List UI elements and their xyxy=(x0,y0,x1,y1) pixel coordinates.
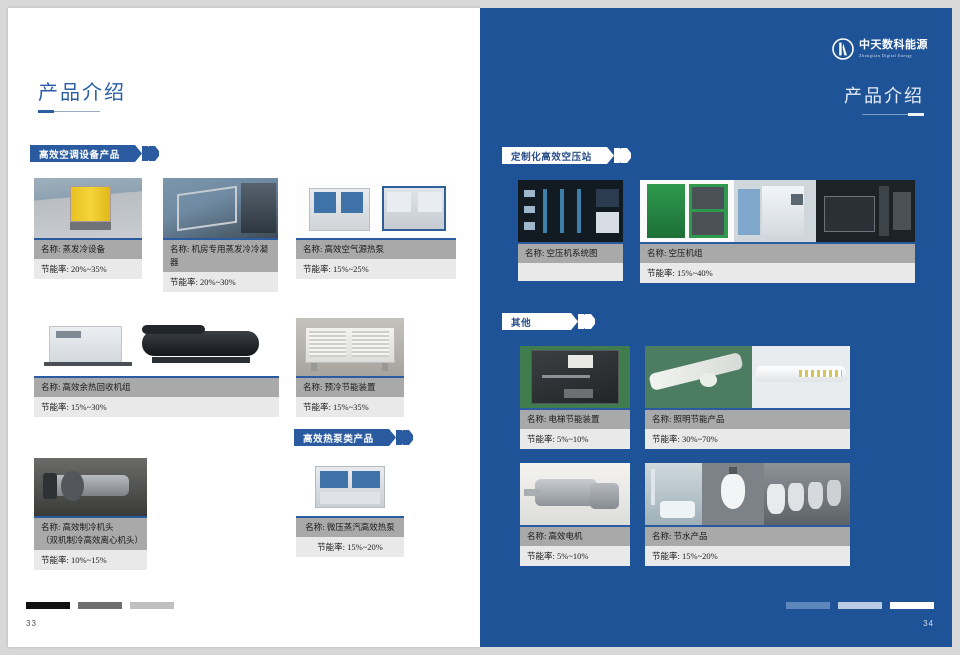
section-banner-label: 其他 xyxy=(502,313,564,330)
page-number: 34 xyxy=(923,619,934,628)
product-rate xyxy=(518,263,623,281)
product-rate: 节能率: 15%~25% xyxy=(296,259,456,279)
product-name: 名称: 高效制冷机头 （双机制冷高效离心机头） xyxy=(34,516,147,550)
page-title: 产品介绍 xyxy=(38,76,126,105)
progress-chip xyxy=(26,602,70,609)
product-name-line1: 名称: 高效制冷机头 xyxy=(41,522,114,532)
page-number: 33 xyxy=(26,619,37,628)
product-photo xyxy=(520,346,630,408)
product-card[interactable]: 名称: 高效电机 节能率: 5%~10% xyxy=(520,463,630,566)
product-name: 名称: 预冷节能装置 xyxy=(296,376,404,397)
product-photo xyxy=(645,346,850,408)
product-name: 名称: 蒸发冷设备 xyxy=(34,238,142,259)
product-photo xyxy=(640,180,915,242)
banner-tip-icon xyxy=(600,147,614,164)
product-rate: 节能率: 15%~35% xyxy=(296,397,404,417)
product-rate: 节能率: 20%~30% xyxy=(163,272,278,292)
logo-mark-icon xyxy=(832,38,854,60)
page-title: 产品介绍 xyxy=(844,82,924,108)
product-rate: 节能率: 30%~70% xyxy=(645,429,850,449)
spread-canvas: 产品介绍 高效空调设备产品 名称: 蒸发冷设备 xyxy=(0,0,960,655)
product-photo xyxy=(518,180,623,242)
progress-chip xyxy=(130,602,174,609)
product-photo xyxy=(296,458,404,516)
section-banner-label: 高效热泵类产品 xyxy=(294,429,382,446)
chevron-right-icon xyxy=(396,429,413,446)
product-name: 名称: 空压机组 xyxy=(640,242,915,263)
progress-chip xyxy=(838,602,882,609)
product-rate: 节能率: 5%~10% xyxy=(520,429,630,449)
right-page: 中天数科能源 Zhongtian Digital Energy 产品介绍 定制化… xyxy=(480,8,952,647)
product-rate: 节能率: 15%~40% xyxy=(640,263,915,283)
product-photo xyxy=(34,458,147,516)
product-name: 名称: 高效空气源热泵 xyxy=(296,238,456,259)
product-card[interactable]: 名称: 高效制冷机头 （双机制冷高效离心机头） 节能率: 10%~15% xyxy=(34,458,147,570)
product-name: 名称: 空压机系统图 xyxy=(518,242,623,263)
product-name: 名称: 高效电机 xyxy=(520,525,630,546)
product-card[interactable]: 名称: 电梯节能装置 节能率: 5%~10% xyxy=(520,346,630,449)
logo-text-en: Zhongtian Digital Energy xyxy=(859,54,928,58)
product-photo xyxy=(296,318,404,376)
chevron-right-icon xyxy=(142,145,159,162)
logo-wordmark: 中天数科能源 Zhongtian Digital Energy xyxy=(859,40,928,58)
product-card[interactable]: 名称: 预冷节能装置 节能率: 15%~35% xyxy=(296,318,404,417)
product-photo xyxy=(34,178,142,238)
brand-logo: 中天数科能源 Zhongtian Digital Energy xyxy=(832,38,928,60)
chevron-right-icon xyxy=(614,147,631,164)
product-name-line2: （双机制冷高效离心机头） xyxy=(41,534,140,547)
progress-chip xyxy=(786,602,830,609)
product-card[interactable]: 名称: 空压机组 节能率: 15%~40% xyxy=(640,180,915,283)
title-underline xyxy=(862,114,924,115)
product-rate: 节能率: 20%~35% xyxy=(34,259,142,279)
banner-tip-icon xyxy=(564,313,578,330)
product-photo xyxy=(34,318,279,376)
section-banner-hvac: 高效空调设备产品 xyxy=(30,145,159,162)
banner-tip-icon xyxy=(128,145,142,162)
product-photo xyxy=(645,463,850,525)
product-name: 名称: 高效余热回收机组 xyxy=(34,376,279,397)
product-card[interactable]: 名称: 照明节能产品 节能率: 30%~70% xyxy=(645,346,850,449)
left-page: 产品介绍 高效空调设备产品 名称: 蒸发冷设备 xyxy=(8,8,480,647)
product-name: 名称: 照明节能产品 xyxy=(645,408,850,429)
product-name: 名称: 电梯节能装置 xyxy=(520,408,630,429)
product-rate: 节能率: 15%~20% xyxy=(296,537,404,557)
section-banner-other: 其他 xyxy=(502,313,595,330)
progress-chips xyxy=(26,602,174,609)
progress-chips xyxy=(786,602,934,609)
product-rate: 节能率: 15%~30% xyxy=(34,397,279,417)
title-underline xyxy=(38,111,100,112)
chevron-right-icon xyxy=(578,313,595,330)
product-card[interactable]: 名称: 高效余热回收机组 节能率: 15%~30% xyxy=(34,318,279,417)
product-photo xyxy=(296,178,456,238)
product-photo xyxy=(163,178,278,238)
product-card[interactable]: 名称: 空压机系统图 xyxy=(518,180,623,281)
section-banner-label: 定制化高效空压站 xyxy=(502,147,600,164)
product-card[interactable]: 名称: 机房专用蒸发冷冷凝器 节能率: 20%~30% xyxy=(163,178,278,292)
section-banner-label: 高效空调设备产品 xyxy=(30,145,128,162)
product-rate: 节能率: 10%~15% xyxy=(34,550,147,570)
logo-text-cn: 中天数科能源 xyxy=(859,40,928,51)
product-card[interactable]: 名称: 高效空气源热泵 节能率: 15%~25% xyxy=(296,178,456,279)
product-name: 名称: 微压蒸汽高效热泵 xyxy=(296,516,404,537)
section-banner-aircomp: 定制化高效空压站 xyxy=(502,147,631,164)
product-rate: 节能率: 5%~10% xyxy=(520,546,630,566)
product-name: 名称: 节水产品 xyxy=(645,525,850,546)
product-card[interactable]: 名称: 节水产品 节能率: 15%~20% xyxy=(645,463,850,566)
product-rate: 节能率: 15%~20% xyxy=(645,546,850,566)
product-name: 名称: 机房专用蒸发冷冷凝器 xyxy=(163,238,278,272)
product-card[interactable]: 名称: 蒸发冷设备 节能率: 20%~35% xyxy=(34,178,142,279)
banner-tip-icon xyxy=(382,429,396,446)
section-banner-heatpump: 高效热泵类产品 xyxy=(294,429,413,446)
product-card[interactable]: 名称: 微压蒸汽高效热泵 节能率: 15%~20% xyxy=(296,458,404,557)
progress-chip xyxy=(78,602,122,609)
product-photo xyxy=(520,463,630,525)
progress-chip xyxy=(890,602,934,609)
